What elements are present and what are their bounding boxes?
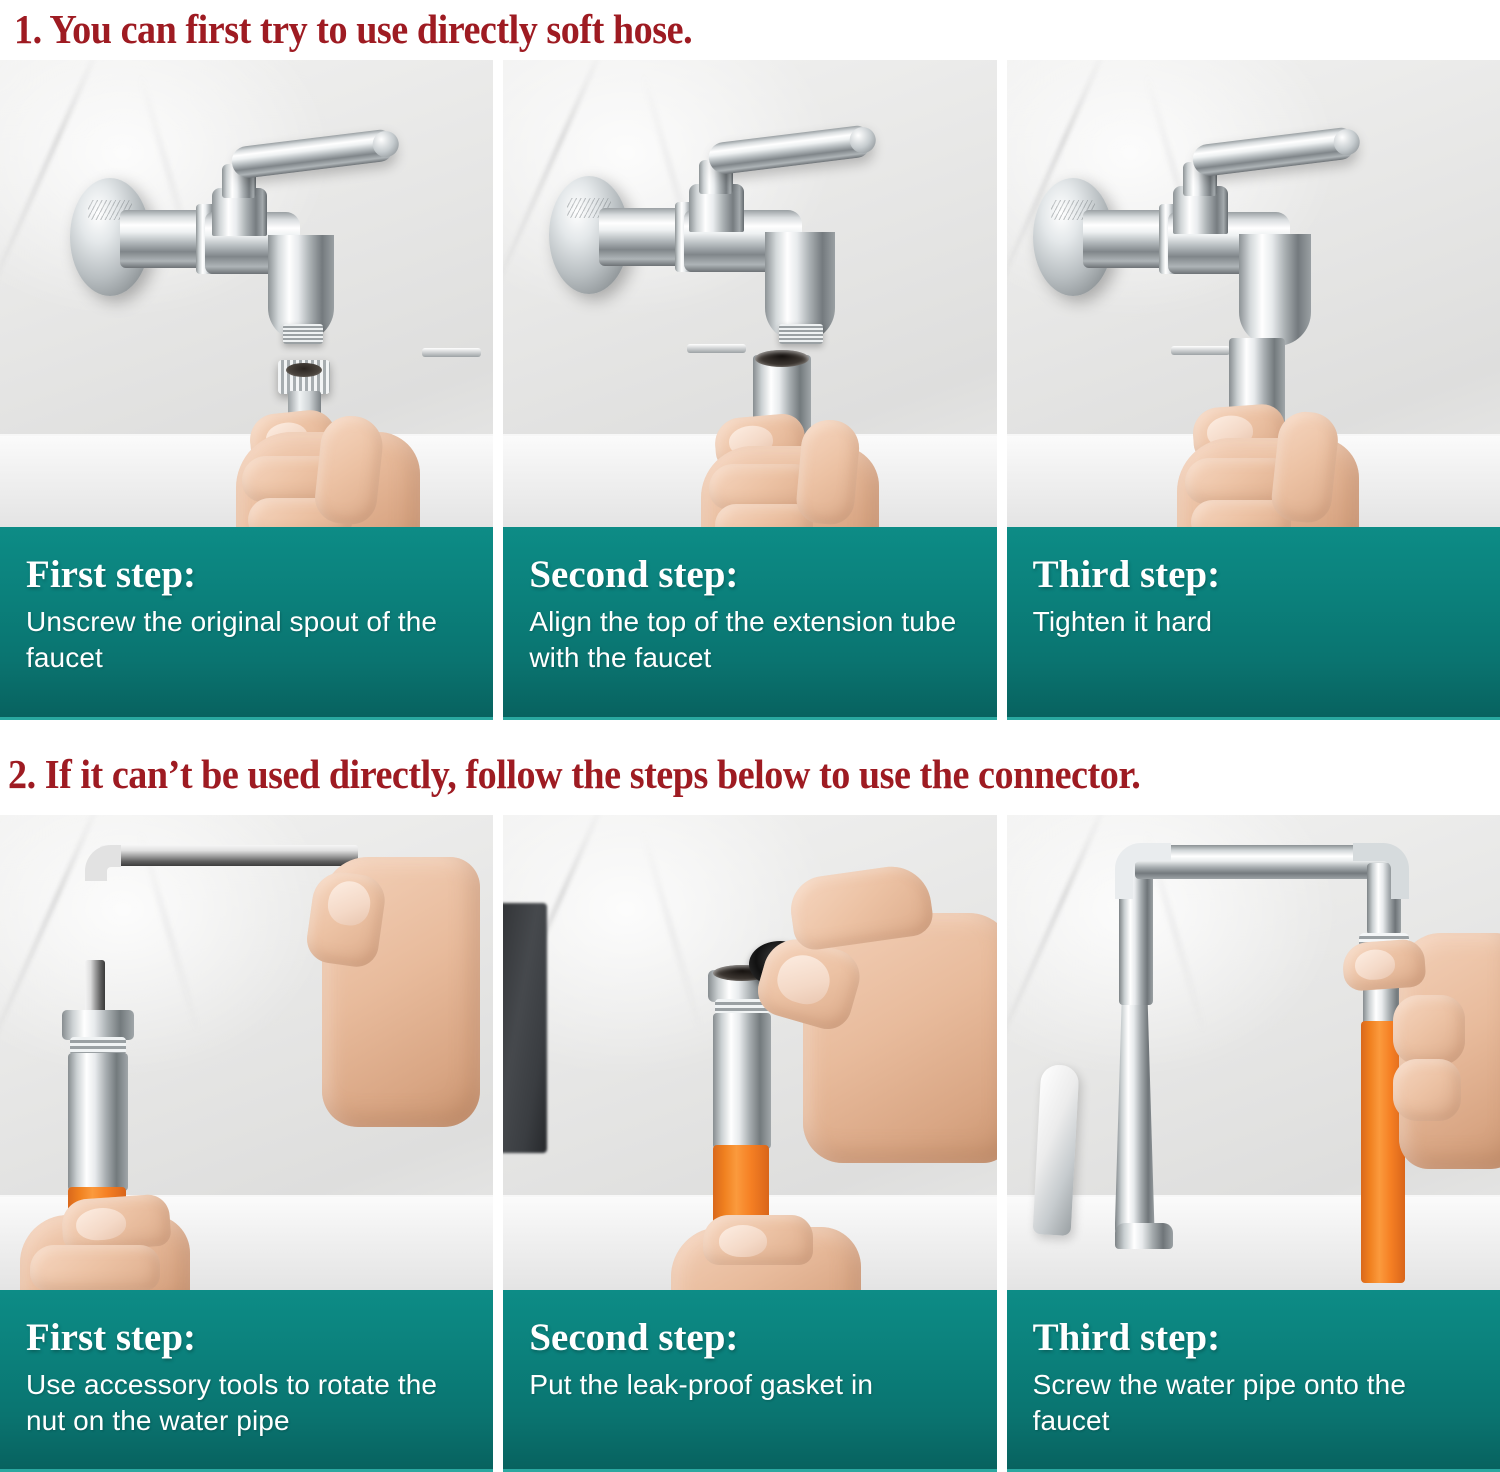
fingernail xyxy=(325,879,373,928)
fingernail xyxy=(75,1206,127,1241)
stem-ring xyxy=(1171,346,1230,355)
kitchen-faucet-base xyxy=(1115,1223,1173,1249)
connector-nut xyxy=(62,1010,134,1040)
photo-tighten-hose xyxy=(1007,60,1500,527)
hand-finger-lower xyxy=(703,1215,813,1265)
fingernail xyxy=(719,1225,767,1257)
connector-barrel xyxy=(68,1053,128,1191)
caption-title: Second step: xyxy=(529,553,974,597)
kitchen-faucet-elbow-right xyxy=(1353,843,1409,899)
caption-box: Third step: Tighten it hard xyxy=(1007,527,1500,720)
step-panel-1-1: First step: Unscrew the original spout o… xyxy=(0,60,493,720)
caption-box: Second step: Put the leak-proof gasket i… xyxy=(503,1290,996,1472)
caption-body: Tighten it hard xyxy=(1033,604,1478,640)
photo-unscrew-spout xyxy=(0,60,493,527)
step-panel-2-3: Third step: Screw the water pipe onto th… xyxy=(1007,815,1500,1472)
steps-row-direct-hose: First step: Unscrew the original spout o… xyxy=(0,60,1500,720)
section-heading-1: 1. You can first try to use directly sof… xyxy=(14,0,692,58)
hex-wrench-long-arm xyxy=(100,845,358,866)
caption-box: First step: Use accessory tools to rotat… xyxy=(0,1290,493,1472)
stem-ring xyxy=(422,348,481,357)
extension-tube-opening xyxy=(755,350,809,367)
caption-title: Third step: xyxy=(1033,553,1478,597)
background-appliance xyxy=(503,903,547,1153)
photo-align-tube xyxy=(503,60,996,527)
fingernail xyxy=(1354,948,1396,981)
caption-body: Put the leak-proof gasket in xyxy=(529,1367,974,1403)
caption-title: First step: xyxy=(26,553,471,597)
original-aerator-spout xyxy=(278,360,330,394)
step-panel-2-2: Second step: Put the leak-proof gasket i… xyxy=(503,815,996,1472)
stem-ring xyxy=(687,344,746,353)
faucet-spout xyxy=(1239,234,1311,346)
instruction-infographic: 1. You can first try to use directly sof… xyxy=(0,0,1500,1472)
fingernail xyxy=(773,949,836,1009)
step-panel-1-3: Third step: Tighten it hard xyxy=(1007,60,1500,720)
caption-box: Third step: Screw the water pipe onto th… xyxy=(1007,1290,1500,1472)
hand-thumb xyxy=(795,418,862,527)
faucet-spout-threads xyxy=(283,324,323,344)
caption-body: Screw the water pipe onto the faucet xyxy=(1033,1367,1478,1439)
photo-insert-gasket xyxy=(503,815,996,1290)
hand-middle-finger xyxy=(1393,995,1465,1065)
caption-box: First step: Unscrew the original spout o… xyxy=(0,527,493,720)
steps-row-connector: First step: Use accessory tools to rotat… xyxy=(0,815,1500,1472)
hand-index-finger-lower xyxy=(60,1193,171,1252)
caption-body: Use accessory tools to rotate the nut on… xyxy=(26,1367,471,1439)
counter-surface xyxy=(1007,1195,1500,1290)
caption-title: Second step: xyxy=(529,1316,974,1360)
connector-barrel xyxy=(713,1013,771,1149)
hand-ring-finger xyxy=(1393,1059,1461,1121)
caption-title: First step: xyxy=(26,1316,471,1360)
hand-index-finger xyxy=(1341,938,1426,992)
caption-title: Third step: xyxy=(1033,1316,1478,1360)
caption-box: Second step: Align the top of the extens… xyxy=(503,527,996,720)
aerator-opening xyxy=(286,363,322,377)
section-heading-2: 2. If it can’t be used directly, follow … xyxy=(8,745,1140,803)
step-panel-2-1: First step: Use accessory tools to rotat… xyxy=(0,815,493,1472)
hand-middle-finger-lower xyxy=(30,1245,160,1290)
photo-screw-onto-faucet xyxy=(1007,815,1500,1290)
kitchen-faucet-elbow-left xyxy=(1115,843,1171,899)
faucet-spout-threads xyxy=(779,324,823,344)
caption-body: Unscrew the original spout of the faucet xyxy=(26,604,471,676)
step-panel-1-2: Second step: Align the top of the extens… xyxy=(503,60,996,720)
photo-rotate-nut xyxy=(0,815,493,1290)
hand-thumb xyxy=(1269,409,1340,525)
caption-body: Align the top of the extension tube with… xyxy=(529,604,974,676)
